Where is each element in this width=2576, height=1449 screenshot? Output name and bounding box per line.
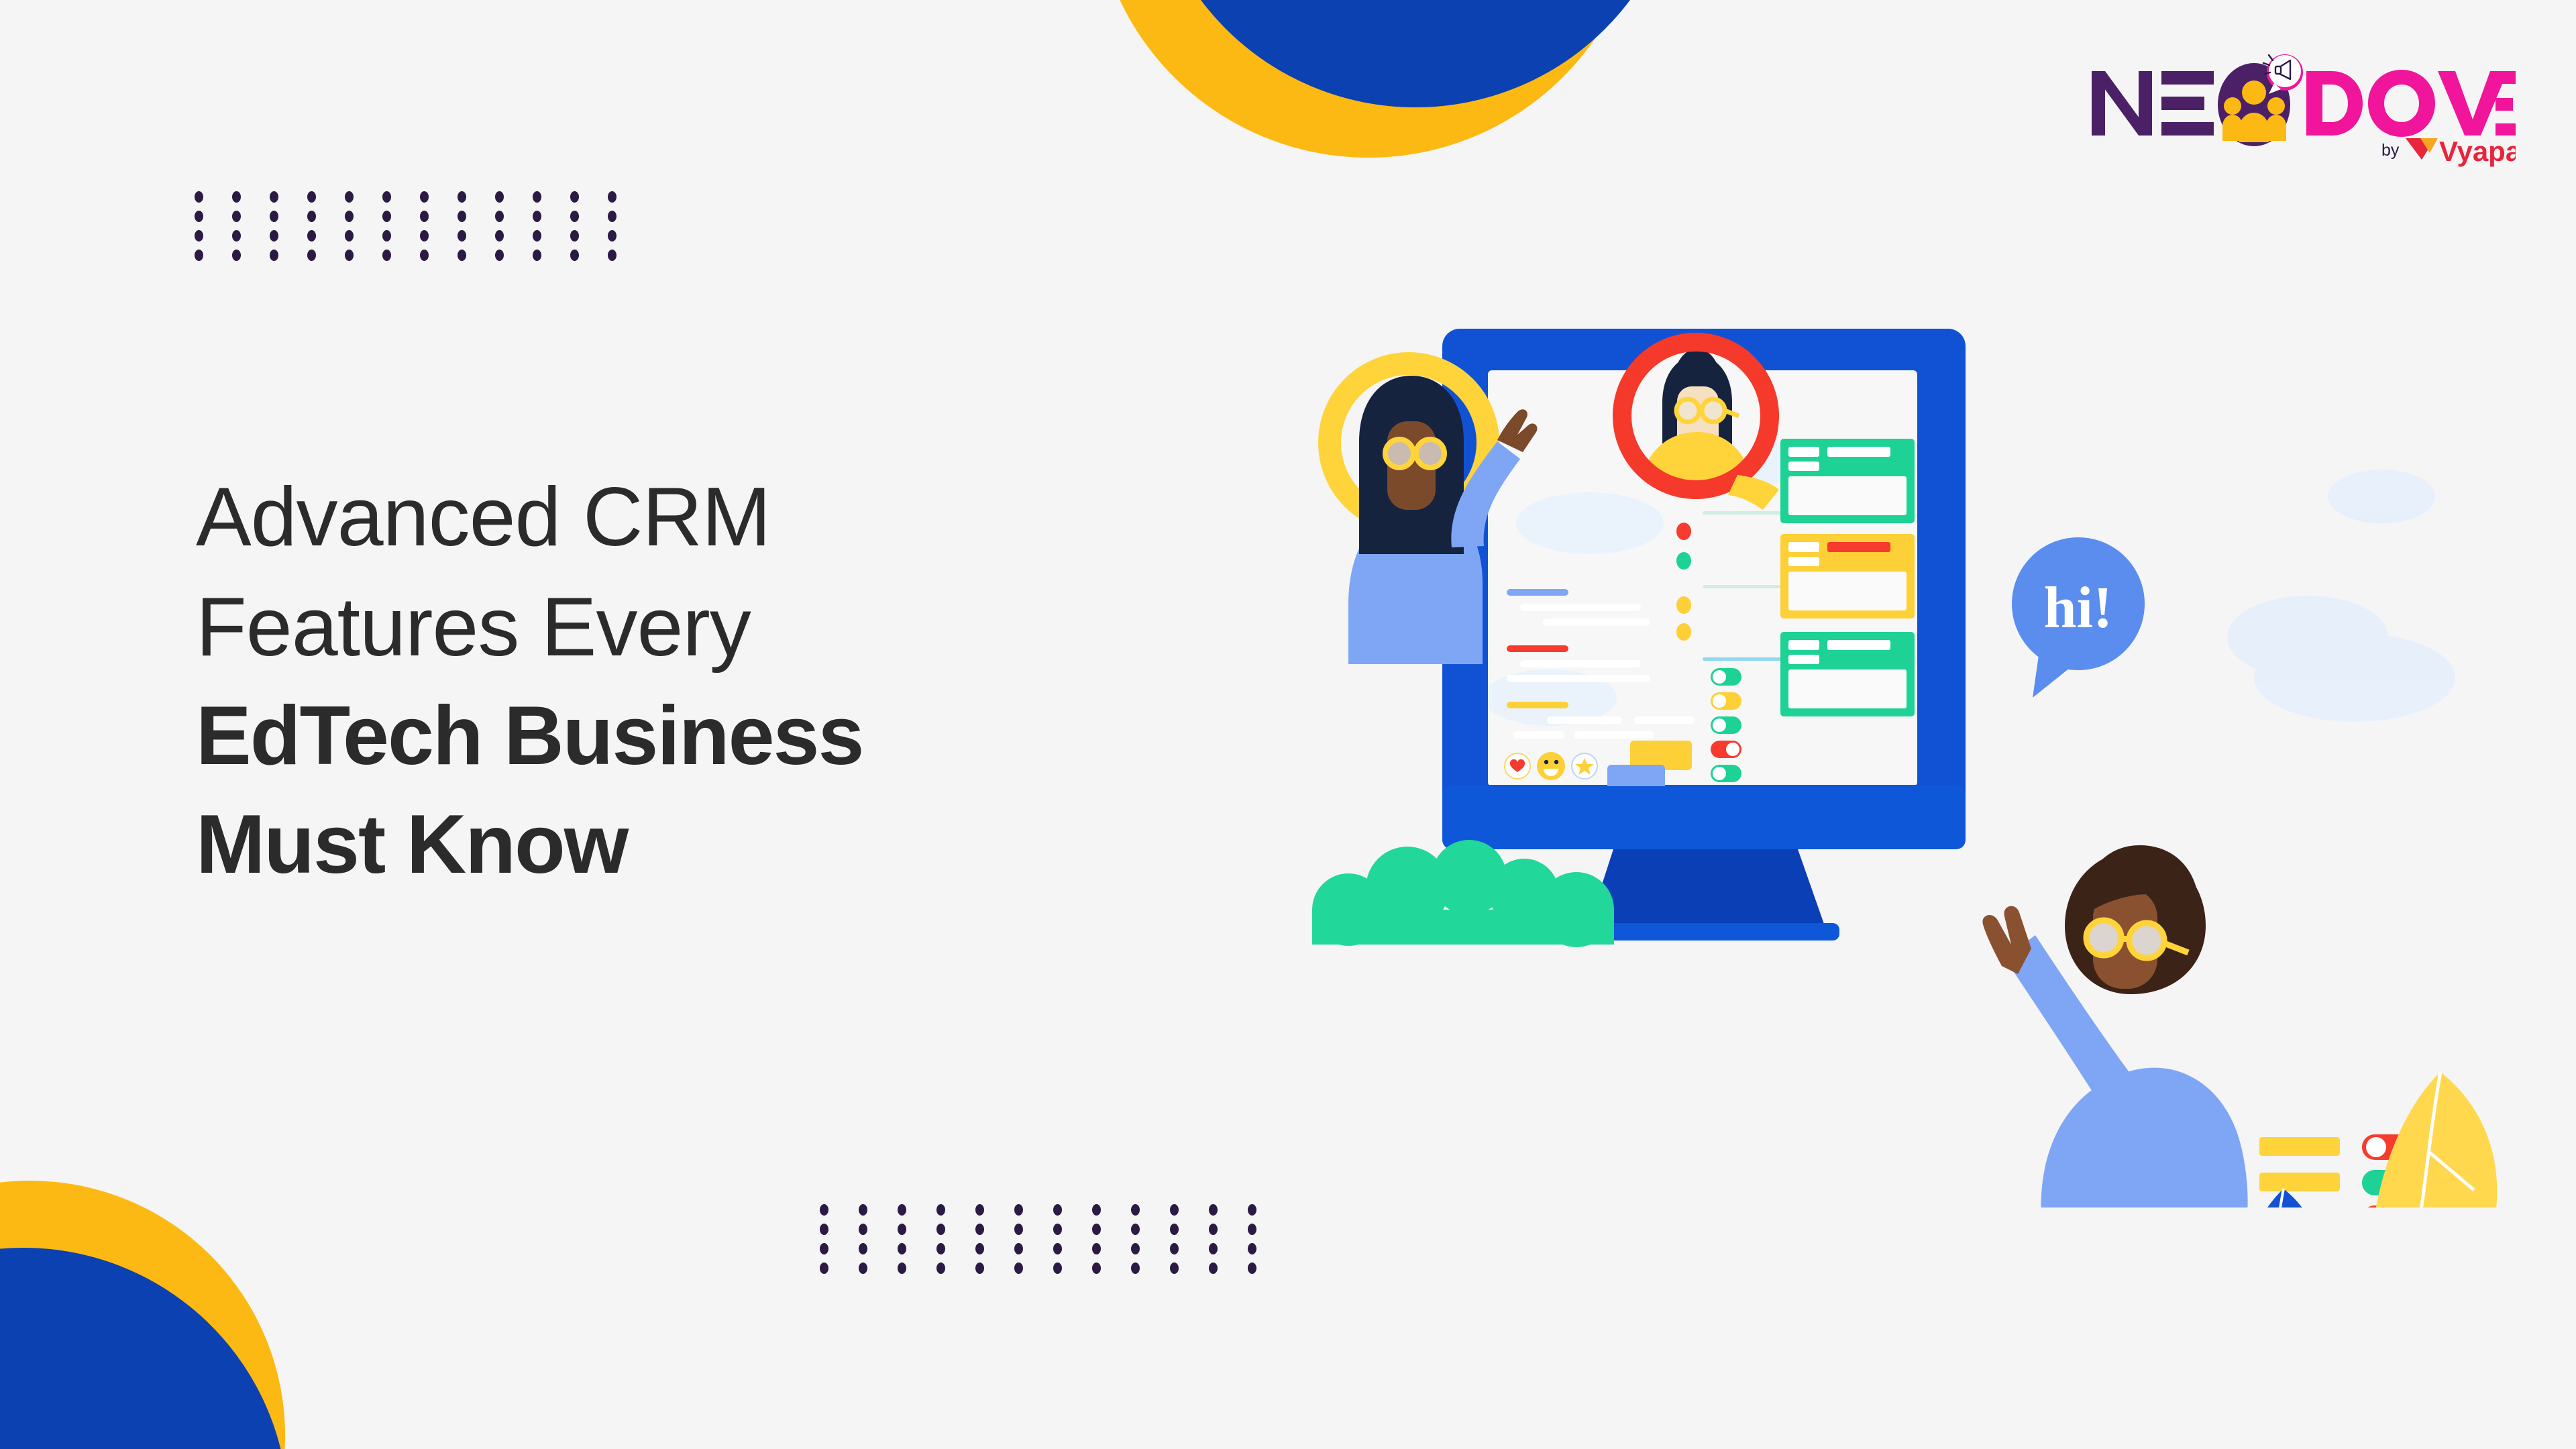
decorative-dot xyxy=(270,191,278,203)
decorative-dot xyxy=(1053,1204,1062,1216)
decorative-dot xyxy=(1248,1243,1256,1254)
headline-line-1: Advanced CRM xyxy=(196,463,1242,573)
decorative-dot xyxy=(608,191,616,203)
dot-pattern-bottom-center xyxy=(820,1204,1287,1282)
decorative-dot xyxy=(1131,1263,1140,1274)
decorative-dot xyxy=(820,1263,828,1274)
decorative-dot xyxy=(382,211,391,222)
decorative-dot xyxy=(345,230,354,241)
decorative-dot xyxy=(1131,1224,1140,1235)
decorative-dot xyxy=(1209,1204,1218,1216)
decorative-dot xyxy=(270,211,278,222)
decorative-dot xyxy=(1014,1224,1023,1235)
headline-block: Advanced CRM Features Every EdTech Busin… xyxy=(196,463,1242,899)
decorative-dot xyxy=(1170,1243,1179,1254)
neodove-logo[interactable]: by Vyapar xyxy=(2086,40,2516,168)
decorative-dot xyxy=(232,191,241,203)
decorative-dot xyxy=(1131,1243,1140,1254)
decorative-dot xyxy=(382,230,391,241)
monitor-stand xyxy=(1589,849,1825,926)
decorative-dot xyxy=(975,1204,984,1216)
logo-letter-n xyxy=(2092,71,2152,136)
logo-wordmark-dove xyxy=(2306,70,2516,137)
decorative-dot xyxy=(570,230,579,241)
decorative-dot xyxy=(936,1243,945,1254)
decorative-dot xyxy=(898,1243,906,1254)
screen-toggle xyxy=(1711,668,1741,686)
poster-canvas: Advanced CRM Features Every EdTech Busin… xyxy=(0,0,2576,1449)
decorative-dot xyxy=(270,230,278,241)
decorative-dot xyxy=(345,191,354,203)
decorative-dot xyxy=(608,230,616,241)
decorative-dot xyxy=(859,1224,867,1235)
reaction-icon-row xyxy=(1505,752,1597,780)
decorative-dot xyxy=(533,230,541,241)
decorative-dot xyxy=(232,211,241,222)
decorative-dot xyxy=(1209,1263,1218,1274)
decorative-dot xyxy=(975,1224,984,1235)
vyapar-mark xyxy=(2406,138,2438,160)
heart-icon xyxy=(1505,753,1530,779)
decorative-dot xyxy=(495,191,504,203)
decorative-dot xyxy=(458,191,466,203)
decorative-dot xyxy=(1170,1263,1179,1274)
decorative-dot xyxy=(1248,1204,1256,1216)
decorative-dot xyxy=(898,1224,906,1235)
decorative-dot xyxy=(820,1224,828,1235)
decorative-dot xyxy=(458,230,466,241)
decorative-dot xyxy=(533,211,541,222)
decorative-dot xyxy=(195,250,203,261)
decorative-dot xyxy=(975,1243,984,1254)
decorative-dot xyxy=(495,250,504,261)
bush-decoration xyxy=(1312,840,1614,947)
person-torso xyxy=(2041,1068,2247,1207)
decorative-dot xyxy=(382,191,391,203)
screen-toggle xyxy=(1711,741,1741,758)
speech-bubble-hi: hi! xyxy=(2012,537,2145,698)
decorative-dot xyxy=(232,230,241,241)
decorative-dot xyxy=(195,230,203,241)
decorative-dot xyxy=(570,191,579,203)
decorative-dot xyxy=(495,230,504,241)
decorative-dot xyxy=(1170,1204,1179,1216)
decorative-dot xyxy=(420,250,429,261)
decorative-dot xyxy=(859,1263,867,1274)
decorative-dot xyxy=(1014,1204,1023,1216)
decorative-dot xyxy=(1170,1224,1179,1235)
decorative-dot xyxy=(1209,1243,1218,1254)
leaf-blue xyxy=(2235,1189,2322,1207)
decorative-dot xyxy=(1092,1263,1101,1274)
decorative-dot xyxy=(458,250,466,261)
decorative-dot xyxy=(458,211,466,222)
decorative-dot xyxy=(1131,1204,1140,1216)
decorative-dot xyxy=(420,230,429,241)
decorative-dot xyxy=(420,211,429,222)
decorative-dot xyxy=(1248,1263,1256,1274)
decorative-dot xyxy=(898,1263,906,1274)
decorative-dot xyxy=(820,1204,828,1216)
decorative-dot xyxy=(975,1263,984,1274)
decorative-dot xyxy=(345,250,354,261)
decorative-dot xyxy=(859,1204,867,1216)
decorative-dot xyxy=(1092,1224,1101,1235)
decorative-dot xyxy=(420,191,429,203)
logo-byline: by xyxy=(2381,141,2400,160)
decorative-dot xyxy=(608,211,616,222)
decorative-dot xyxy=(307,250,316,261)
headline-line-4: Must Know xyxy=(196,791,1242,899)
dot-pattern-top-left xyxy=(195,191,645,269)
card-green-bottom xyxy=(1780,632,1915,716)
decorative-dot xyxy=(382,250,391,261)
smiley-icon xyxy=(1537,752,1565,780)
decorative-dot xyxy=(1053,1263,1062,1274)
decorative-dot xyxy=(570,211,579,222)
decorative-dot xyxy=(533,191,541,203)
decorative-dot xyxy=(307,230,316,241)
vyapar-wordmark: Vyapar xyxy=(2439,136,2516,167)
headline-line-3: EdTech Business xyxy=(196,682,1242,790)
decorative-dot xyxy=(1248,1224,1256,1235)
decorative-dot xyxy=(195,191,203,203)
decorative-dot xyxy=(1053,1243,1062,1254)
speech-bubble-label: hi! xyxy=(2044,576,2113,641)
card-yellow-middle xyxy=(1780,534,1915,619)
monitor-foot xyxy=(1575,923,1839,941)
card-green-top xyxy=(1780,439,1915,523)
svg-text:by: by xyxy=(2381,141,2400,160)
seated-person-figure xyxy=(1953,845,2285,1207)
decorative-dot xyxy=(1014,1263,1023,1274)
decorative-dot xyxy=(1092,1243,1101,1254)
decorative-dot xyxy=(1053,1224,1062,1235)
decorative-dot xyxy=(232,250,241,261)
decorative-dot xyxy=(898,1204,906,1216)
monitor-chin xyxy=(1442,785,1966,849)
decorative-dot xyxy=(270,250,278,261)
decorative-dot xyxy=(936,1224,945,1235)
decorative-dot xyxy=(608,250,616,261)
decorative-dot xyxy=(936,1263,945,1274)
decorative-dot xyxy=(1092,1204,1101,1216)
screen-toggle xyxy=(1711,765,1741,782)
decorative-dot xyxy=(1209,1224,1218,1235)
decorative-dot xyxy=(859,1243,867,1254)
star-icon xyxy=(1572,753,1597,779)
decorative-dot xyxy=(936,1204,945,1216)
decorative-dot xyxy=(345,211,354,222)
decorative-dot xyxy=(570,250,579,261)
decorative-dot xyxy=(533,250,541,261)
logo-letter-e xyxy=(2161,71,2214,136)
decorative-dot xyxy=(820,1243,828,1254)
screen-toggle xyxy=(1711,716,1741,734)
hero-illustration: hi! xyxy=(1308,322,2576,1207)
decorative-dot xyxy=(495,211,504,222)
decorative-dot xyxy=(195,211,203,222)
headline-line-2: Features Every xyxy=(196,573,1242,683)
decorative-dot xyxy=(307,211,316,222)
decorative-dot xyxy=(307,191,316,203)
screen-toggle xyxy=(1711,692,1741,710)
decorative-dot xyxy=(1014,1243,1023,1254)
